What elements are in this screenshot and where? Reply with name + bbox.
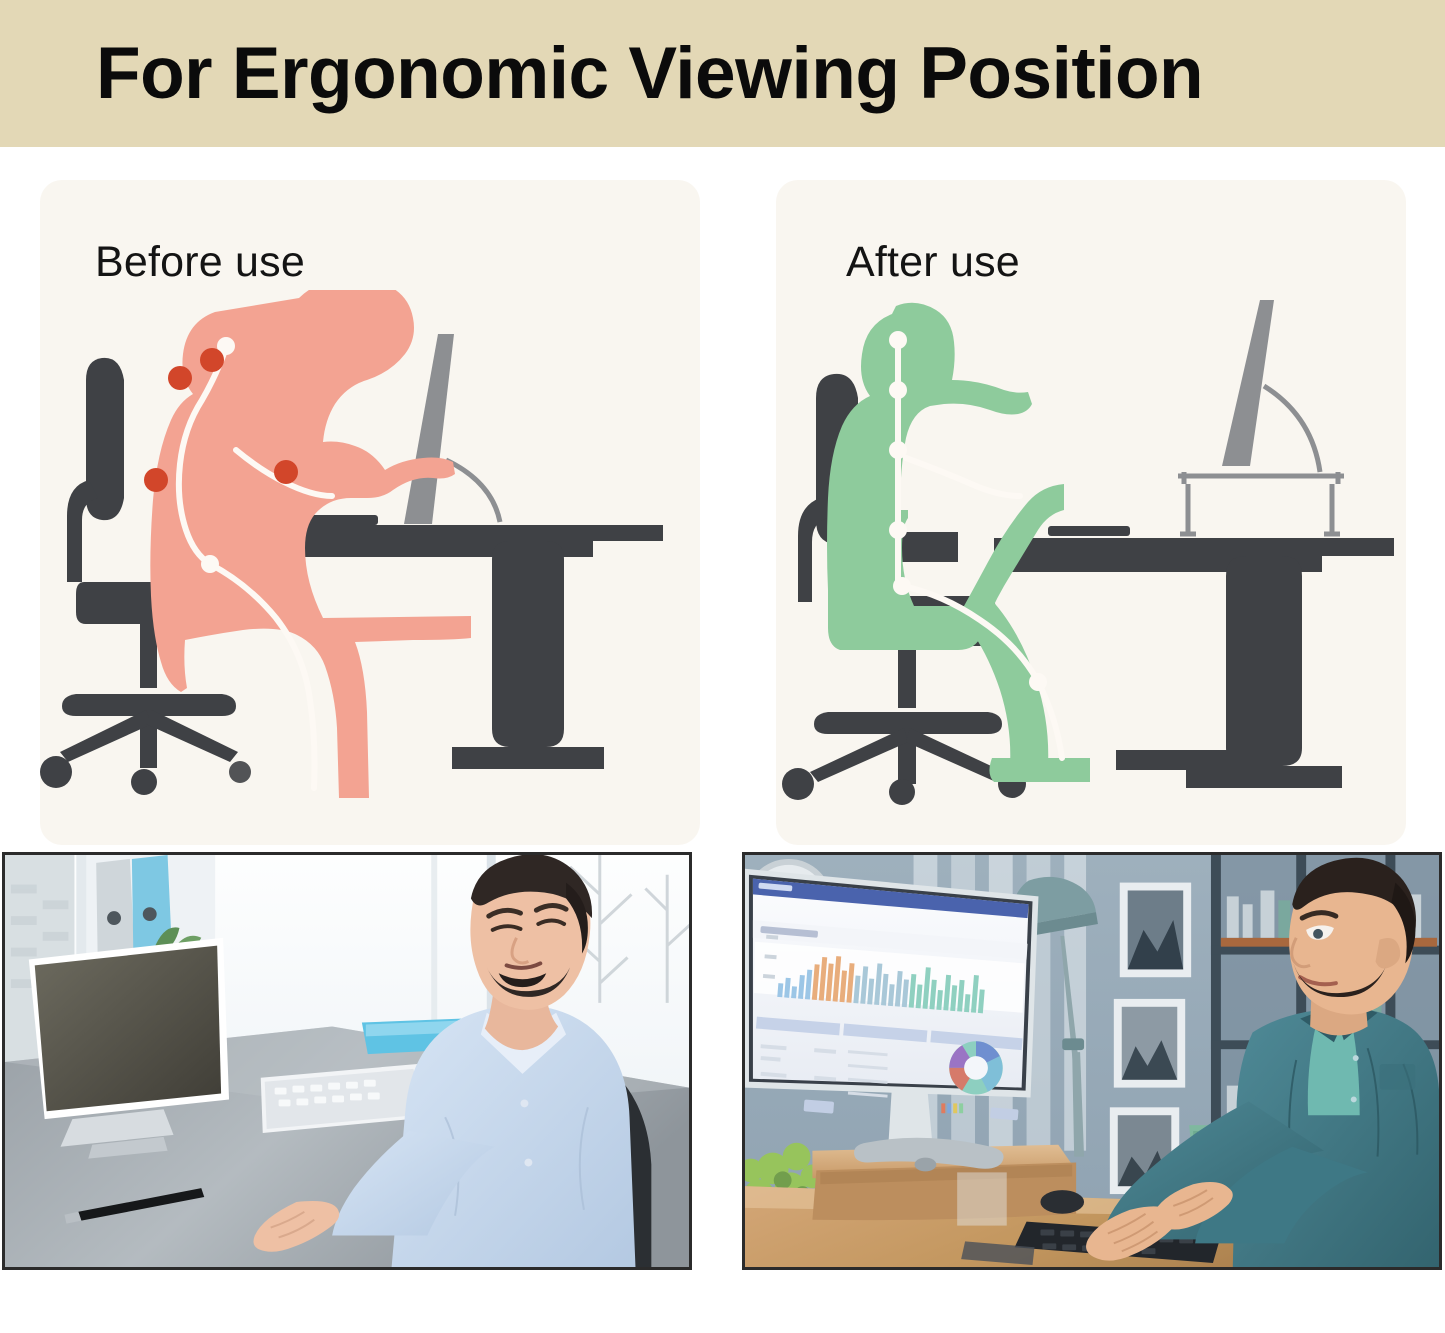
photo-after-scene: [745, 855, 1439, 1267]
page-title: For Ergonomic Viewing Position: [96, 37, 1203, 110]
before-posture-illustration: [40, 290, 700, 835]
monitor-right: [745, 869, 1038, 1121]
after-posture-illustration: [776, 290, 1406, 835]
photo-before-scene: [5, 855, 689, 1267]
keyboard-before: [302, 515, 378, 525]
photo-before-use: [2, 852, 692, 1270]
before-use-label: Before use: [95, 238, 305, 287]
header-band: For Ergonomic Viewing Position: [0, 0, 1445, 147]
pain-dot-shoulder: [168, 366, 192, 390]
after-use-label: After use: [846, 238, 1020, 287]
monitor-before: [404, 334, 500, 524]
monitor-after: [1222, 300, 1320, 472]
product-infographic: For Ergonomic Viewing Position Before us…: [0, 0, 1445, 1333]
pain-dot-neck: [200, 348, 224, 372]
desk-after: [994, 538, 1394, 788]
after-use-card: After use: [776, 180, 1406, 845]
monitor-riser-stand: [1178, 472, 1344, 536]
keyboard-after: [1048, 526, 1130, 536]
pain-dot-lower-back: [144, 468, 168, 492]
before-use-card: Before use: [40, 180, 700, 845]
mouse-right: [1040, 1190, 1084, 1214]
photo-after-use: [742, 852, 1442, 1270]
pain-dot-elbow: [274, 460, 298, 484]
